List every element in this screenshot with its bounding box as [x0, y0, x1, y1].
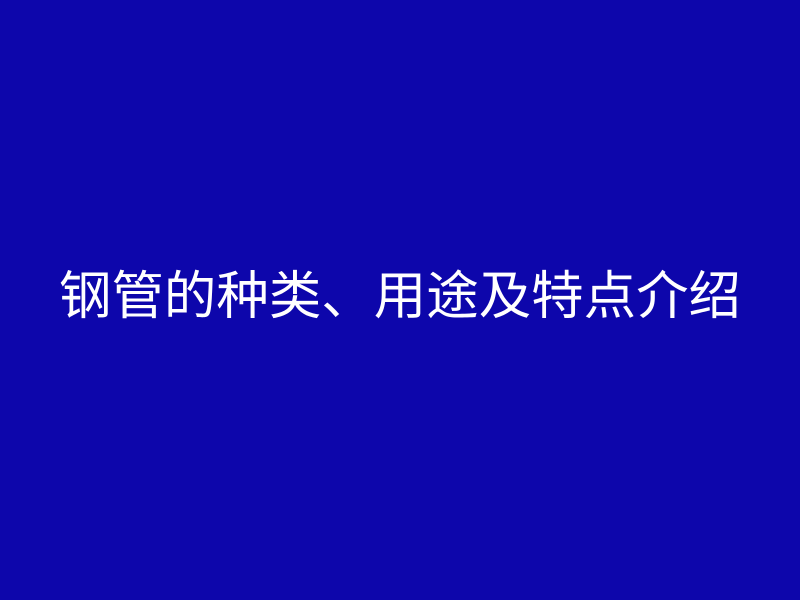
presentation-slide: 钢管的种类、用途及特点介绍 [0, 0, 800, 600]
slide-title-block: 钢管的种类、用途及特点介绍 [0, 0, 800, 600]
slide-title: 钢管的种类、用途及特点介绍 [59, 271, 741, 323]
